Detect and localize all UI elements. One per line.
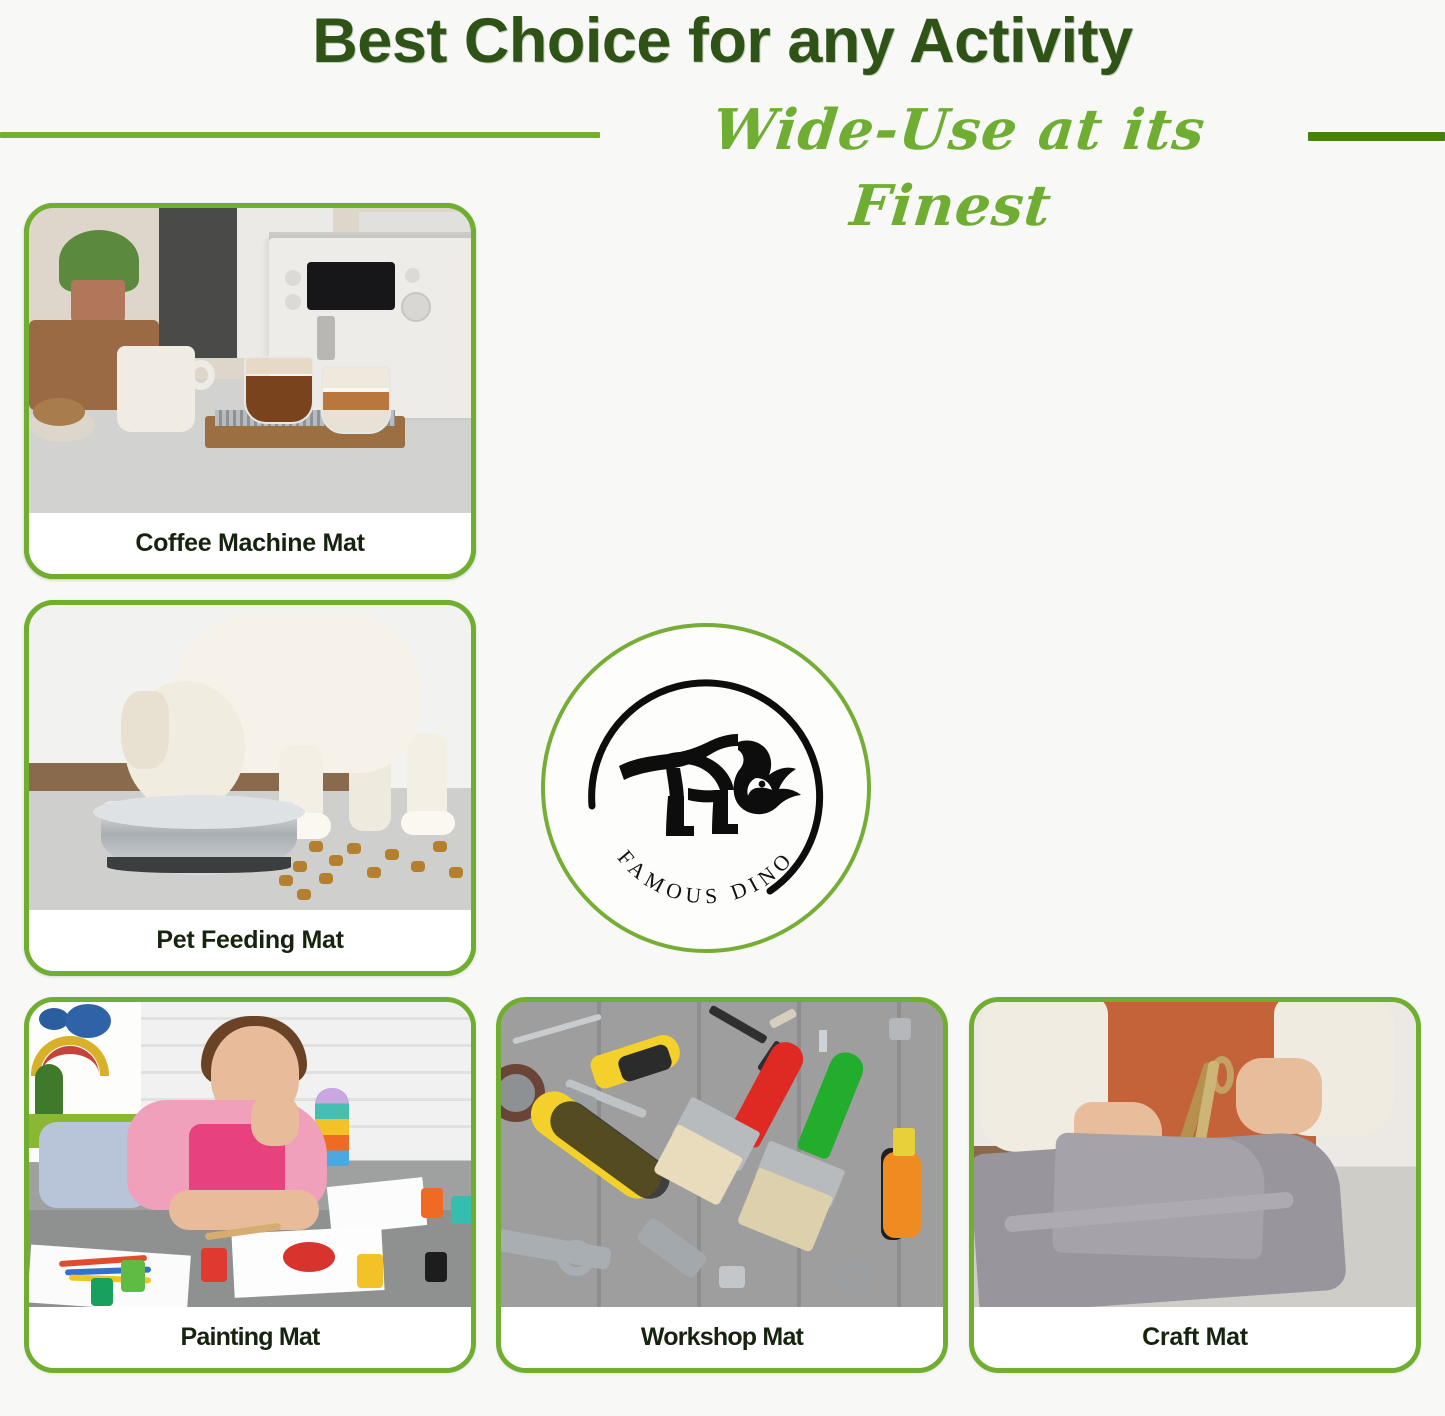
product-use-grid: Countertop Mat Place Mat — [24, 203, 1421, 1391]
divider-right — [1308, 132, 1445, 141]
photo-painting-mat — [29, 1002, 471, 1307]
card-craft-mat[interactable]: Craft Mat — [969, 997, 1421, 1373]
infographic-page: Best Choice for any Activity Wide-Use at… — [0, 0, 1445, 1416]
photo-workshop-mat — [501, 1002, 943, 1307]
card-coffee-machine-mat[interactable]: Coffee Machine Mat — [24, 203, 476, 579]
card-label: Painting Mat — [29, 1307, 471, 1368]
card-label: Workshop Mat — [501, 1307, 943, 1368]
logo-circle-border: FAMOUS DINO — [541, 623, 871, 953]
header: Best Choice for any Activity Wide-Use at… — [0, 0, 1445, 190]
subtitle-row: Wide-Use at its Finest — [0, 92, 1445, 176]
card-painting-mat[interactable]: Painting Mat — [24, 997, 476, 1373]
card-pet-feeding-mat[interactable]: Pet Feeding Mat — [24, 600, 476, 976]
photo-pet-feeding-mat — [29, 605, 471, 910]
page-title: Best Choice for any Activity — [0, 5, 1445, 77]
svg-text:FAMOUS DINO: FAMOUS DINO — [613, 845, 800, 908]
card-label: Craft Mat — [974, 1307, 1416, 1368]
dino-logo-icon: FAMOUS DINO — [556, 638, 856, 938]
photo-coffee-machine-mat — [29, 208, 471, 513]
card-workshop-mat[interactable]: Workshop Mat — [496, 997, 948, 1373]
brand-logo: FAMOUS DINO — [521, 603, 891, 973]
card-label: Pet Feeding Mat — [29, 910, 471, 971]
photo-craft-mat — [974, 1002, 1416, 1307]
card-label: Coffee Machine Mat — [29, 513, 471, 574]
divider-left — [0, 132, 600, 138]
